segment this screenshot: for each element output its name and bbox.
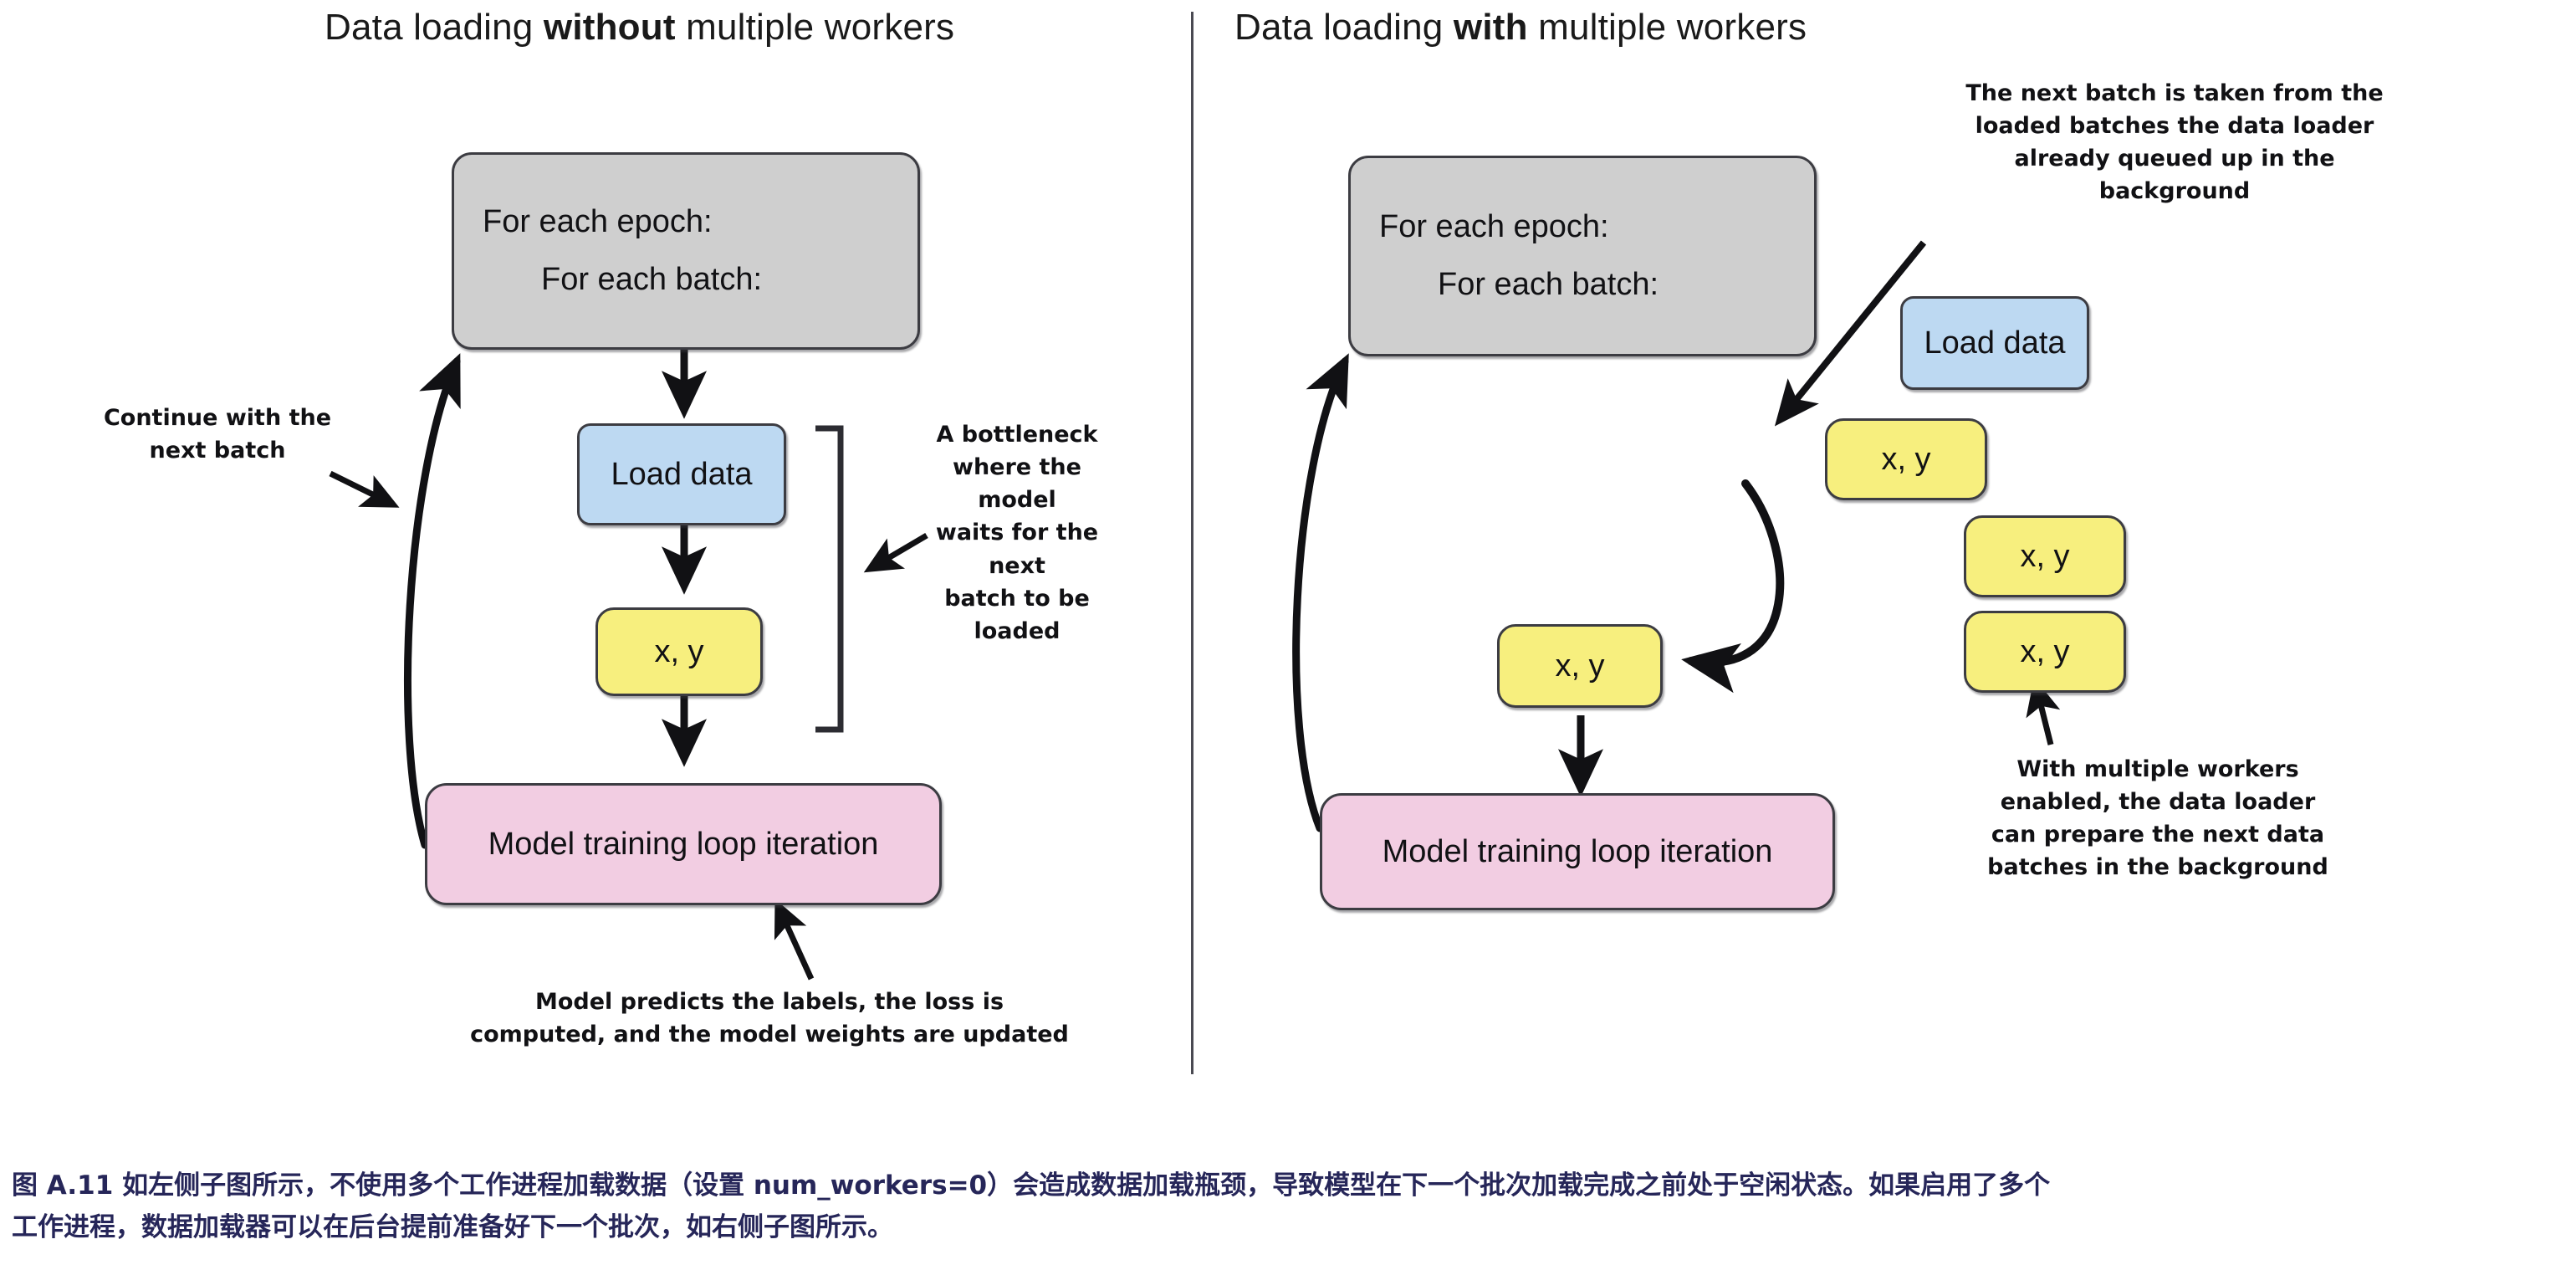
right-title-suffix: multiple workers [1528,7,1807,48]
arrow-workers-pointer [2036,684,2051,745]
left-bottleneck-line-2: where the model [912,451,1122,516]
right-training-box[interactable]: Model training loop iteration [1320,793,1835,910]
left-title-suffix: multiple workers [676,7,955,48]
left-loop-line-2: For each batch: [483,262,762,298]
left-continue-line-2: next batch [92,434,343,467]
arrow-loop-to-current-xy [1691,484,1780,663]
right-xy-queue-box-3[interactable]: x, y [1964,611,2126,693]
left-panel-title: Data loading without multiple workers [325,7,954,49]
left-load-data-box[interactable]: Load data [577,423,786,525]
arrow-right-feedback-loop [1296,361,1345,828]
left-predict-line-1: Model predicts the labels, the loss is [435,986,1104,1018]
right-xy-queue-label-1: x, y [1881,442,1930,478]
left-bottleneck-line-5: loaded [912,615,1122,648]
caption-line-1: 图 A.11 如左侧子图所示，不使用多个工作进程加载数据（设置 num_work… [12,1165,2564,1206]
right-workers-line-4: batches in the background [1924,851,2392,883]
right-xy-current-label: x, y [1555,648,1604,684]
left-xy-label: x, y [654,634,703,670]
left-bottleneck-line-4: batch to be [912,582,1122,615]
left-title-emphasis: without [544,7,676,48]
right-title-prefix: Data loading [1234,7,1454,48]
left-xy-box[interactable]: x, y [595,607,763,696]
figure-container: Data loading without multiple workers Fo… [0,0,2576,1265]
right-workers-annotation: With multiple workers enabled, the data … [1924,753,2392,884]
right-load-data-box[interactable]: Load data [1900,296,2089,390]
panel-divider [1191,12,1193,1074]
left-predict-line-2: computed, and the model weights are upda… [435,1018,1104,1051]
left-load-data-label: Load data [611,457,752,493]
left-bottleneck-annotation: A bottleneck where the model waits for t… [912,418,1122,648]
left-bottleneck-line-3: waits for the next [912,516,1122,581]
right-loop-line-2: For each batch: [1379,267,1659,303]
right-title-emphasis: with [1454,7,1528,48]
right-next-batch-annotation: The next batch is taken from the loaded … [1949,77,2400,208]
left-training-label: Model training loop iteration [488,827,879,863]
left-predict-annotation: Model predicts the labels, the loss is c… [435,986,1104,1051]
left-title-prefix: Data loading [325,7,544,48]
right-xy-queue-label-3: x, y [2020,634,2069,670]
right-load-data-label: Load data [1924,325,2065,361]
right-next-batch-line-3: already queued up in the [1949,142,2400,175]
right-xy-queue-box-2[interactable]: x, y [1964,515,2126,597]
left-training-box[interactable]: Model training loop iteration [425,783,942,905]
right-next-batch-line-4: background [1949,175,2400,207]
right-panel-title: Data loading with multiple workers [1234,7,1807,49]
right-training-label: Model training loop iteration [1383,834,1773,870]
figure-caption: 图 A.11 如左侧子图所示，不使用多个工作进程加载数据（设置 num_work… [12,1165,2564,1248]
left-loop-line-1: For each epoch: [483,204,713,240]
right-workers-line-1: With multiple workers [1924,753,2392,786]
bottleneck-bracket [815,428,841,730]
right-workers-line-3: can prepare the next data [1924,818,2392,851]
left-loop-box[interactable]: For each epoch: For each batch: [452,152,920,350]
left-bottleneck-line-1: A bottleneck [912,418,1122,451]
right-loop-line-1: For each epoch: [1379,209,1609,245]
arrow-predict-pointer [778,905,811,979]
right-xy-queue-box-1[interactable]: x, y [1825,418,1987,500]
left-continue-annotation: Continue with the next batch [92,402,343,467]
caption-line-2: 工作进程，数据加载器可以在后台提前准备好下一个批次，如右侧子图所示。 [12,1206,2564,1248]
right-workers-line-2: enabled, the data loader [1924,786,2392,818]
right-xy-queue-label-2: x, y [2020,539,2069,575]
right-next-batch-line-1: The next batch is taken from the [1949,77,2400,110]
arrow-continue-pointer [330,474,393,504]
arrow-continue-loop [407,361,457,845]
left-continue-line-1: Continue with the [92,402,343,434]
right-next-batch-line-2: loaded batches the data loader [1949,110,2400,142]
right-loop-box[interactable]: For each epoch: For each batch: [1348,156,1817,356]
right-xy-current-box[interactable]: x, y [1497,624,1663,708]
